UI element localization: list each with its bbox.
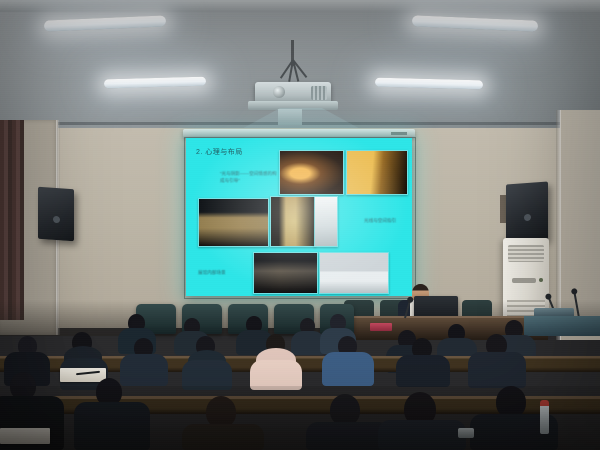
wall-speaker-right (506, 182, 548, 243)
projector-lens-icon (273, 86, 285, 98)
equipment-side-table (524, 316, 600, 336)
notebook (0, 428, 50, 444)
slide-title: 2. 心理与布局 (196, 147, 243, 157)
wall-speaker-left (38, 187, 74, 242)
slide-photo-2 (346, 150, 408, 195)
nameplate (370, 323, 392, 331)
slide-photo-7 (319, 252, 389, 294)
slide-label-right: 光线与空间指引 (364, 218, 396, 224)
slide-label-bottom-left: 展馆内部场景 (198, 270, 226, 276)
slide-photo-5 (314, 196, 338, 247)
ac-power-led-icon (539, 278, 543, 282)
screen-roller-casing (183, 129, 415, 138)
window-curtain (0, 120, 24, 320)
ac-badge (512, 278, 536, 283)
slide-quote-text: “光与阴影——空间情感的构成与引导” (220, 170, 278, 184)
slide-photo-3 (198, 198, 269, 247)
projector-vent (311, 86, 327, 100)
ceiling-edge-trim (0, 0, 600, 12)
slide-photo-4 (270, 196, 316, 247)
water-bottle (540, 400, 549, 434)
slide-photo-1 (279, 150, 344, 195)
projection-screen: 2. 心理与布局 “光与阴影——空间情感的构成与引导” 光线与空间指引 展馆内部… (186, 138, 412, 296)
lecture-hall-photo: 2. 心理与布局 “光与阴影——空间情感的构成与引导” 光线与空间指引 展馆内部… (0, 0, 600, 450)
projector-lens-housing (278, 109, 302, 125)
smartphone (458, 428, 474, 438)
ac-grille (508, 245, 544, 262)
slide-photo-6 (253, 252, 318, 294)
projector-mount-bracket (268, 60, 320, 84)
